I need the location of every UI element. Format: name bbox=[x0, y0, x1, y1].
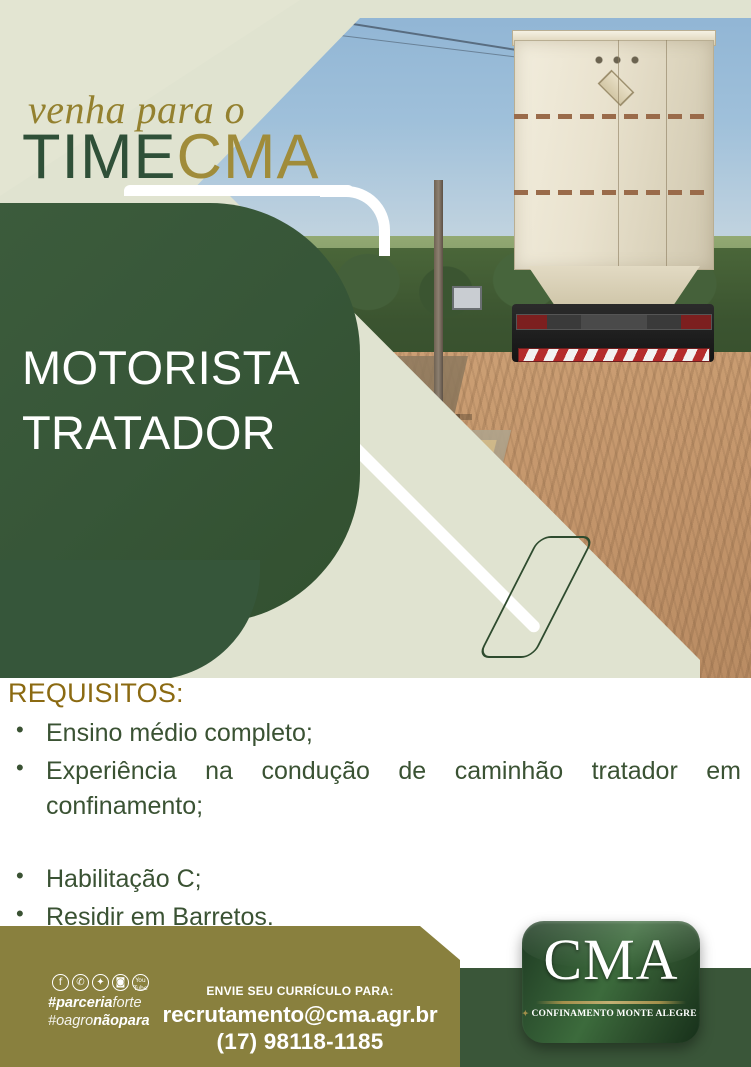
logo-wordmark: CMA bbox=[522, 931, 700, 989]
photo-sign bbox=[452, 286, 482, 310]
truck-rivet-band bbox=[514, 114, 712, 119]
social-links[interactable]: f ✆ ✦ ◙ You Tube bbox=[52, 974, 149, 991]
requirements-list: Ensino médio completo; Experiência na co… bbox=[8, 716, 743, 937]
truck-panel-seam bbox=[618, 40, 619, 268]
page-title: MOTORISTA TRATADOR bbox=[22, 336, 352, 466]
job-title-line-2: TRATADOR bbox=[22, 401, 352, 466]
job-title-line-1: MOTORISTA bbox=[22, 336, 352, 401]
logo-subtitle: ✦ CONFINAMENTO MONTE ALEGRE ✦ bbox=[522, 1009, 700, 1019]
hashtag-parceria-forte: #parceriaforte bbox=[48, 994, 170, 1012]
brand-wordmark: TIMECMA bbox=[22, 126, 320, 189]
hero-section: venha para o TIMECMA MOTORISTA TRATADOR bbox=[0, 0, 751, 678]
leaf-icon-right: ✦ bbox=[699, 1009, 700, 1018]
instagram-icon[interactable]: ◙ bbox=[112, 974, 129, 991]
hashtag-2-light: #oagro bbox=[48, 1013, 93, 1029]
cma-logo: CMA ✦ CONFINAMENTO MONTE ALEGRE ✦ bbox=[522, 921, 700, 1043]
contact-email[interactable]: recrutamento@cma.agr.br bbox=[155, 1001, 445, 1028]
hashtag-2-bold: nãopara bbox=[93, 1013, 149, 1029]
youtube-icon[interactable]: You Tube bbox=[132, 974, 149, 991]
truck-vents bbox=[594, 56, 640, 64]
whatsapp-icon[interactable]: ✆ bbox=[72, 974, 89, 991]
photo-utility-pole bbox=[434, 180, 443, 430]
truck-panel-seam bbox=[666, 40, 667, 268]
photo-feed-truck bbox=[506, 18, 722, 348]
contact-phone[interactable]: (17) 98118-1185 bbox=[155, 1028, 445, 1056]
list-item: Ensino médio completo; bbox=[8, 716, 743, 752]
contact-header: ENVIE SEU CURRÍCULO PARA: bbox=[155, 984, 445, 998]
truck-hazard-stripe bbox=[518, 348, 710, 362]
leaf-icon-left: ✦ bbox=[522, 1009, 529, 1018]
hashtag-oagronaopara: #oagronãopara bbox=[48, 1012, 170, 1030]
list-item: Habilitação C; bbox=[8, 862, 743, 898]
hashtag-1-light: forte bbox=[113, 995, 142, 1011]
wordmark-time: TIME bbox=[22, 122, 177, 192]
truck-tail-lights bbox=[516, 314, 712, 330]
facebook-icon[interactable]: f bbox=[52, 974, 69, 991]
wordmark-cma: CMA bbox=[177, 122, 320, 192]
hashtag-1-bold: #parceria bbox=[48, 995, 113, 1011]
hashtags: #parceriaforte #oagronãopara bbox=[48, 994, 170, 1031]
list-item: Experiência na condução de caminhão trat… bbox=[8, 754, 743, 861]
truck-rivet-band bbox=[514, 190, 712, 195]
twitter-icon[interactable]: ✦ bbox=[92, 974, 109, 991]
contact-block: ENVIE SEU CURRÍCULO PARA: recrutamento@c… bbox=[155, 984, 445, 1056]
logo-divider bbox=[536, 1001, 686, 1004]
job-posting-poster: venha para o TIMECMA MOTORISTA TRATADOR … bbox=[0, 0, 751, 1067]
requirements-section: REQUISITOS: Ensino médio completo; Exper… bbox=[0, 678, 751, 918]
requirements-heading: REQUISITOS: bbox=[8, 678, 184, 709]
logo-subtitle-text: CONFINAMENTO MONTE ALEGRE bbox=[531, 1009, 696, 1019]
